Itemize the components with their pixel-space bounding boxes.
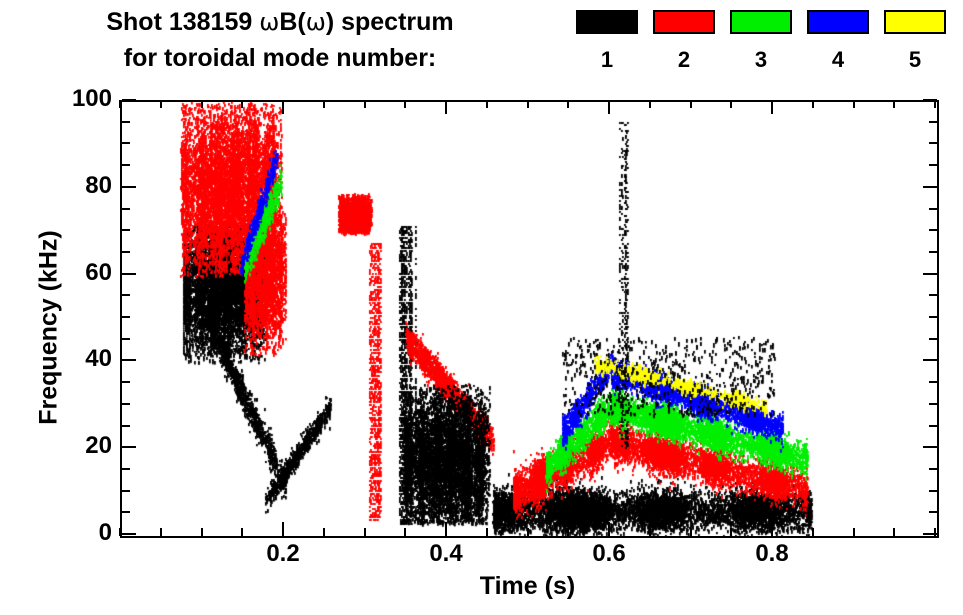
- y-minor-tick-25: [122, 425, 130, 427]
- x-minor-tick-0.00: [119, 528, 121, 536]
- y-tick-label-40: 40: [40, 345, 112, 373]
- x-top-tick-0.65: [649, 100, 651, 108]
- x-minor-tick-0.70: [690, 528, 692, 536]
- y-minor-tick-65: [122, 251, 130, 253]
- y-right-tick-70: [929, 229, 937, 231]
- plot-area: [120, 100, 939, 538]
- legend-label-3: 3: [730, 47, 792, 73]
- y-minor-tick-5: [122, 511, 130, 513]
- y-right-tick-35: [929, 381, 937, 383]
- x-top-tick-0.20: [282, 100, 284, 114]
- x-top-tick-0.70: [690, 100, 692, 108]
- x-tick-label-0.4: 0.4: [406, 540, 486, 568]
- legend-swatch-1: [576, 10, 638, 34]
- x-major-tick-0.80: [771, 522, 773, 536]
- y-major-tick-0: [122, 533, 136, 535]
- x-top-tick-0.30: [364, 100, 366, 108]
- y-major-tick-20: [122, 446, 136, 448]
- x-minor-tick-0.55: [567, 528, 569, 536]
- y-right-tick-85: [929, 164, 937, 166]
- x-minor-tick-0.05: [160, 528, 162, 536]
- x-minor-tick-0.25: [323, 528, 325, 536]
- x-tick-label-0.6: 0.6: [569, 540, 649, 568]
- spectrogram-canvas: [122, 102, 937, 536]
- y-right-tick-45: [929, 338, 937, 340]
- y-major-tick-60: [122, 273, 136, 275]
- y-tick-label-80: 80: [40, 172, 112, 200]
- y-minor-tick-35: [122, 381, 130, 383]
- y-minor-tick-85: [122, 164, 130, 166]
- chart-title-line-1: Shot 138159 ωB(ω) spectrum: [0, 4, 560, 40]
- chart-title: Shot 138159 ωB(ω) spectrum for toroidal …: [0, 4, 560, 76]
- x-top-tick-0.10: [201, 100, 203, 108]
- y-major-tick-80: [122, 186, 136, 188]
- x-axis-title: Time (s): [120, 572, 935, 601]
- x-major-tick-0.40: [445, 522, 447, 536]
- x-minor-tick-0.85: [812, 528, 814, 536]
- y-minor-tick-10: [122, 490, 130, 492]
- legend-item-2: 2: [653, 10, 715, 73]
- chart-title-line-2: for toroidal mode number:: [0, 40, 560, 76]
- y-minor-tick-75: [122, 208, 130, 210]
- chart-title-line-1-mid: B(: [279, 8, 305, 36]
- legend-item-1: 1: [576, 10, 638, 73]
- y-right-tick-0: [923, 533, 937, 535]
- y-right-tick-90: [929, 142, 937, 144]
- y-minor-tick-45: [122, 338, 130, 340]
- y-right-tick-40: [923, 359, 937, 361]
- x-top-tick-0.15: [241, 100, 243, 108]
- x-top-tick-1.00: [934, 100, 936, 108]
- y-right-tick-5: [929, 511, 937, 513]
- x-minor-tick-0.95: [893, 528, 895, 536]
- x-minor-tick-0.65: [649, 528, 651, 536]
- chart-title-line-1-pre: Shot 138159: [106, 8, 259, 36]
- x-top-tick-0.55: [567, 100, 569, 108]
- x-top-tick-0.90: [853, 100, 855, 108]
- omega-symbol-1: ω: [259, 8, 279, 36]
- y-major-tick-100: [122, 99, 136, 101]
- legend: 12345: [576, 10, 956, 90]
- y-right-tick-30: [929, 403, 937, 405]
- y-major-tick-40: [122, 359, 136, 361]
- y-minor-tick-30: [122, 403, 130, 405]
- y-tick-label-100: 100: [40, 85, 112, 113]
- legend-swatch-2: [653, 10, 715, 34]
- x-minor-tick-0.45: [486, 528, 488, 536]
- x-top-tick-0.80: [771, 100, 773, 114]
- y-right-tick-75: [929, 208, 937, 210]
- legend-item-4: 4: [807, 10, 869, 73]
- x-top-tick-0.85: [812, 100, 814, 108]
- y-right-tick-100: [923, 99, 937, 101]
- x-top-tick-0.45: [486, 100, 488, 108]
- x-top-tick-0.35: [404, 100, 406, 108]
- figure-root: Shot 138159 ωB(ω) spectrum for toroidal …: [0, 0, 963, 615]
- x-minor-tick-0.50: [527, 528, 529, 536]
- x-top-tick-0.75: [730, 100, 732, 108]
- x-top-tick-0.50: [527, 100, 529, 108]
- x-minor-tick-0.10: [201, 528, 203, 536]
- x-minor-tick-0.35: [404, 528, 406, 536]
- y-right-tick-60: [923, 273, 937, 275]
- x-minor-tick-0.90: [853, 528, 855, 536]
- x-minor-tick-0.15: [241, 528, 243, 536]
- y-right-tick-15: [929, 468, 937, 470]
- y-tick-label-60: 60: [40, 259, 112, 287]
- y-right-tick-20: [923, 446, 937, 448]
- x-tick-label-0.8: 0.8: [732, 540, 812, 568]
- y-right-tick-65: [929, 251, 937, 253]
- y-right-tick-55: [929, 294, 937, 296]
- x-minor-tick-0.75: [730, 528, 732, 536]
- y-right-tick-25: [929, 425, 937, 427]
- legend-item-5: 5: [884, 10, 946, 73]
- x-top-tick-0.25: [323, 100, 325, 108]
- y-minor-tick-70: [122, 229, 130, 231]
- y-minor-tick-50: [122, 316, 130, 318]
- x-tick-label-0.2: 0.2: [243, 540, 323, 568]
- x-top-tick-0.40: [445, 100, 447, 114]
- x-top-tick-0.00: [119, 100, 121, 108]
- x-top-tick-0.60: [608, 100, 610, 114]
- y-right-tick-50: [929, 316, 937, 318]
- chart-title-line-1-post: ) spectrum: [326, 8, 454, 36]
- x-major-tick-0.60: [608, 522, 610, 536]
- legend-label-1: 1: [576, 47, 638, 73]
- omega-symbol-2: ω: [306, 8, 326, 36]
- y-tick-label-20: 20: [40, 432, 112, 460]
- y-right-tick-95: [929, 121, 937, 123]
- y-minor-tick-90: [122, 142, 130, 144]
- x-major-tick-0.20: [282, 522, 284, 536]
- y-right-tick-10: [929, 490, 937, 492]
- legend-swatch-3: [730, 10, 792, 34]
- legend-label-5: 5: [884, 47, 946, 73]
- y-minor-tick-55: [122, 294, 130, 296]
- y-minor-tick-15: [122, 468, 130, 470]
- legend-swatch-4: [807, 10, 869, 34]
- x-top-tick-0.95: [893, 100, 895, 108]
- y-minor-tick-95: [122, 121, 130, 123]
- y-tick-label-0: 0: [40, 519, 112, 547]
- x-minor-tick-0.30: [364, 528, 366, 536]
- legend-swatch-5: [884, 10, 946, 34]
- legend-label-4: 4: [807, 47, 869, 73]
- y-right-tick-80: [923, 186, 937, 188]
- x-top-tick-0.05: [160, 100, 162, 108]
- legend-label-2: 2: [653, 47, 715, 73]
- legend-item-3: 3: [730, 10, 792, 73]
